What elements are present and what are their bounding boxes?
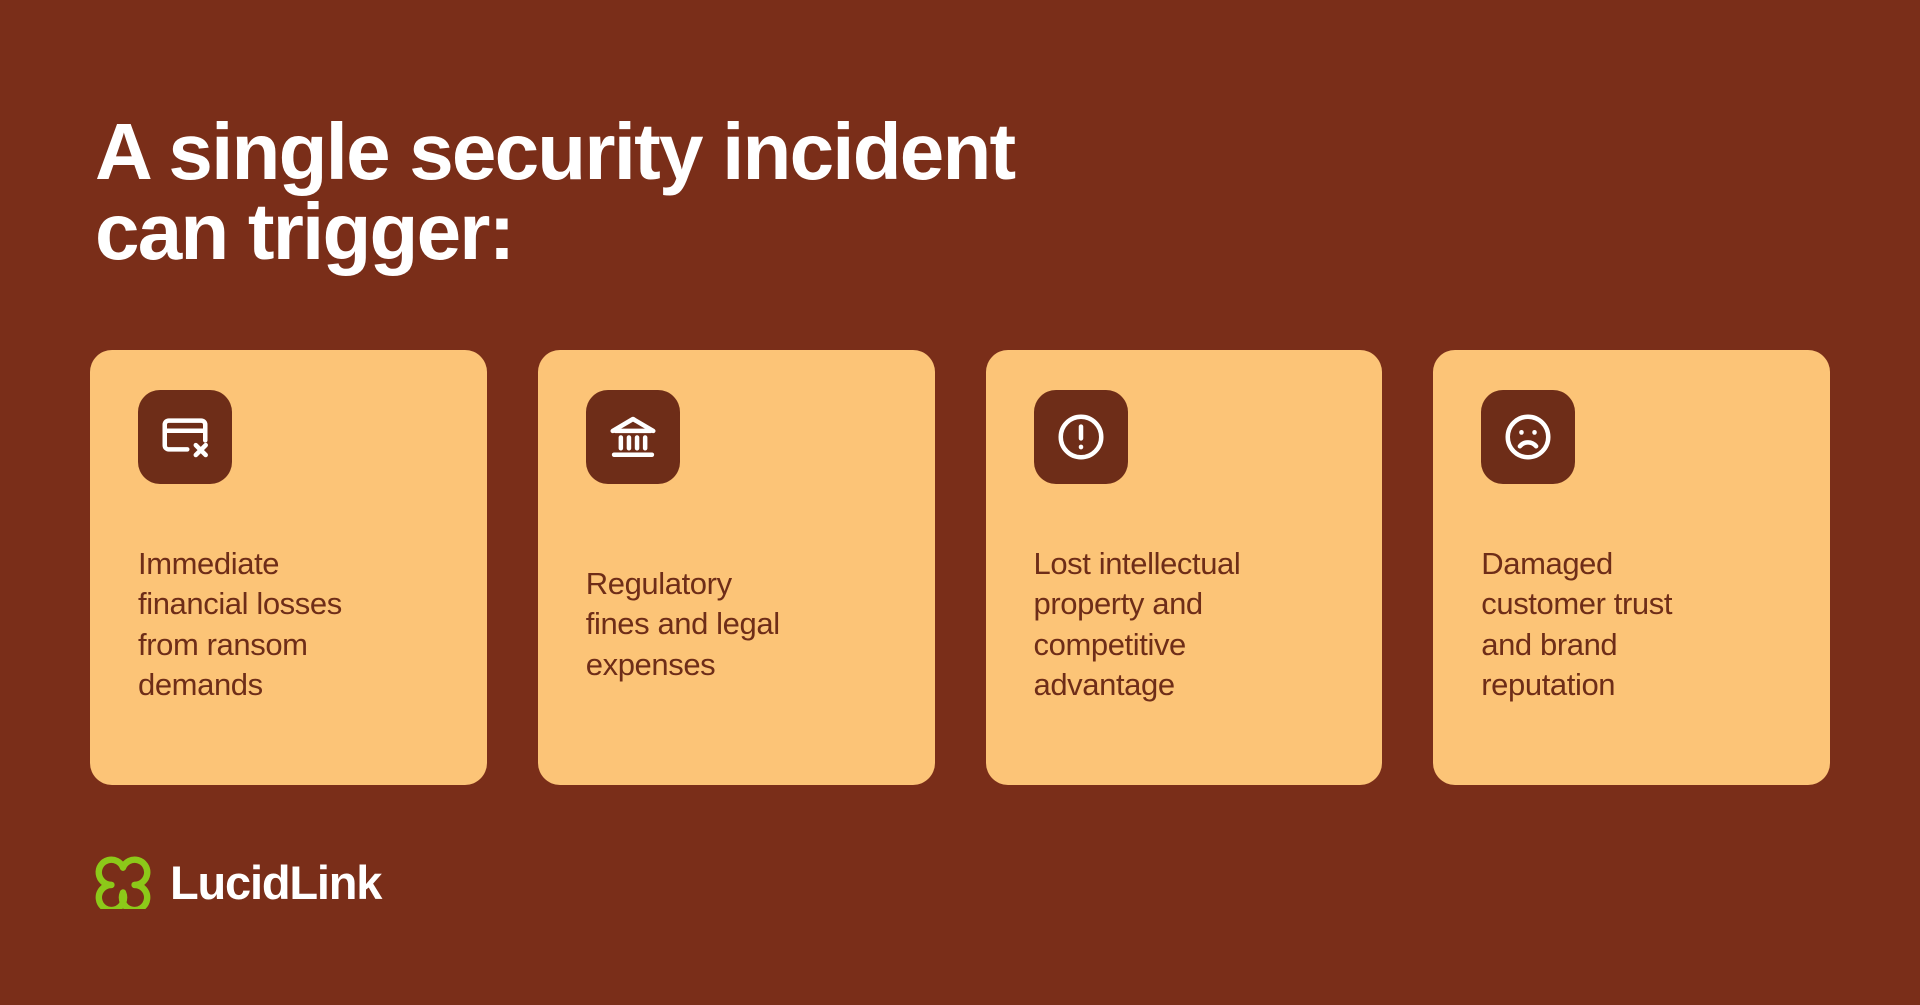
card-text: Immediate financial losses from ransom d… — [138, 544, 342, 705]
bank-icon — [586, 390, 680, 484]
card-damaged-customer-trust: Damaged customer trust and brand reputat… — [1433, 350, 1830, 785]
alert-circle-icon — [1034, 390, 1128, 484]
card-text: Lost intellectual property and competiti… — [1034, 544, 1241, 705]
slide-canvas: A single security incident can trigger: … — [0, 0, 1920, 1005]
card-x-icon — [138, 390, 232, 484]
card-body: Regulatory fines and legal expenses — [538, 484, 935, 785]
card-text: Regulatory fines and legal expenses — [586, 564, 780, 685]
card-immediate-financial-losses: Immediate financial losses from ransom d… — [90, 350, 487, 785]
lucidlink-wordmark: LucidLink — [170, 859, 381, 906]
lucidlink-knot-icon — [92, 855, 154, 909]
cards-row: Immediate financial losses from ransom d… — [90, 350, 1830, 785]
card-text: Damaged customer trust and brand reputat… — [1481, 544, 1672, 705]
card-lost-intellectual-property: Lost intellectual property and competiti… — [986, 350, 1383, 785]
card-body: Immediate financial losses from ransom d… — [90, 484, 487, 785]
page-title: A single security incident can trigger: — [95, 112, 1395, 272]
sad-face-icon — [1481, 390, 1575, 484]
lucidlink-logo: LucidLink — [92, 855, 381, 909]
card-body: Damaged customer trust and brand reputat… — [1433, 484, 1830, 785]
card-body: Lost intellectual property and competiti… — [986, 484, 1383, 785]
card-regulatory-fines: Regulatory fines and legal expenses — [538, 350, 935, 785]
